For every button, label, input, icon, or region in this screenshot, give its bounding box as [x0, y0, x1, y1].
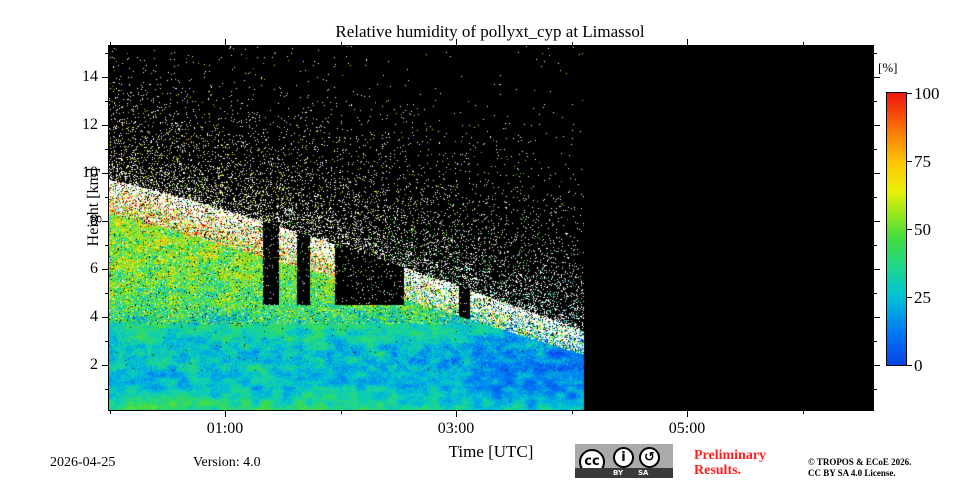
y-tick-label-14: 14 [38, 69, 98, 85]
colorbar-tick-0 [907, 365, 912, 366]
y-tick-12-right [873, 125, 880, 126]
cc-icon-row: cc i ↺ [575, 444, 673, 468]
y-minor-tick-5-right [873, 293, 877, 294]
colorbar-tick-75 [907, 161, 912, 162]
colorbar-label-50: 50 [914, 221, 931, 238]
y-tick-8-right [873, 221, 880, 222]
y-minor-tick-7 [105, 245, 109, 246]
y-minor-tick-11-right [873, 149, 877, 150]
y-tick-label-2: 2 [38, 357, 98, 373]
colorbar-gradient [886, 92, 907, 366]
y-tick-10 [102, 173, 109, 174]
x-tick-label-0300: 03:00 [416, 420, 496, 438]
y-tick-4-right [873, 317, 880, 318]
y-tick-10-right [873, 173, 880, 174]
colorbar-tick-25 [907, 297, 912, 298]
page-title: Relative humidity of pollyxt_cyp at Lima… [108, 22, 872, 42]
cc-by-person-icon: i [613, 447, 634, 468]
cc-sa-share-alike-icon: ↺ [639, 447, 660, 468]
y-minor-tick-13-right [873, 101, 877, 102]
x-tick-0100-top [225, 39, 226, 46]
colorbar-label-25: 25 [914, 289, 931, 306]
humidity-heatmap [109, 46, 873, 410]
y-tick-8 [102, 221, 109, 222]
y-tick-4 [102, 317, 109, 318]
y-minor-tick-9 [105, 197, 109, 198]
y-minor-tick-5 [105, 293, 109, 294]
x-tick-0100 [225, 410, 226, 417]
x-minor-tick-0000-top [110, 42, 111, 46]
x-minor-tick-0200-top [341, 42, 342, 46]
copyright-notice: © TROPOS & ECoE 2026. CC BY SA 4.0 Licen… [808, 457, 911, 479]
figure-canvas: Relative humidity of pollyxt_cyp at Lima… [0, 0, 960, 480]
y-tick-2 [102, 365, 109, 366]
preliminary-line-1: Preliminary [694, 448, 766, 463]
y-tick-14-right [873, 77, 880, 78]
colorbar-unit-label: [%] [878, 60, 898, 76]
y-tick-6-right [873, 269, 880, 270]
y-tick-label-4: 4 [38, 309, 98, 325]
y-minor-tick-13 [105, 101, 109, 102]
x-tick-0300-top [456, 39, 457, 46]
y-minor-tick-9-right [873, 197, 877, 198]
colorbar-label-0: 0 [914, 357, 923, 374]
y-minor-tick-3-right [873, 341, 877, 342]
y-minor-tick-1 [105, 389, 109, 390]
plot-area[interactable]: 14 12 10 8 6 4 2 [108, 45, 874, 411]
copyright-line-1: © TROPOS & ECoE 2026. [808, 457, 911, 468]
x-minor-tick-0200 [341, 410, 342, 414]
x-minor-tick-0600 [803, 410, 804, 414]
copyright-line-2: CC BY SA 4.0 License. [808, 468, 911, 479]
colorbar[interactable]: 100 75 50 25 0 [886, 92, 907, 366]
cc-label-strip: BY SA [575, 468, 673, 478]
colorbar-tick-100 [907, 93, 912, 94]
y-minor-tick-3 [105, 341, 109, 342]
x-tick-0500-top [687, 39, 688, 46]
cc-by-label: BY [613, 468, 623, 478]
preliminary-results-notice: Preliminary Results. [694, 448, 766, 478]
x-tick-label-0100: 01:00 [185, 420, 265, 438]
colorbar-tick-50 [907, 229, 912, 230]
cc-sa-label: SA [638, 468, 648, 478]
y-minor-tick-1-right [873, 389, 877, 390]
y-tick-12 [102, 125, 109, 126]
colorbar-label-100: 100 [914, 85, 940, 102]
x-tick-0500 [687, 410, 688, 417]
y-axis-label: Height [km] [85, 107, 103, 307]
x-minor-tick-0400-top [572, 42, 573, 46]
creative-commons-badge[interactable]: cc i ↺ BY SA [575, 444, 673, 478]
y-minor-tick-15 [105, 53, 109, 54]
y-minor-tick-11 [105, 149, 109, 150]
y-tick-14 [102, 77, 109, 78]
y-tick-6 [102, 269, 109, 270]
footer-version: Version: 4.0 [193, 455, 261, 471]
colorbar-label-75: 75 [914, 153, 931, 170]
x-tick-0300 [456, 410, 457, 417]
x-tick-label-0500: 05:00 [647, 420, 727, 438]
preliminary-line-2: Results. [694, 463, 766, 478]
y-minor-tick-15-right [873, 53, 877, 54]
footer-date: 2026-04-25 [50, 455, 115, 471]
x-minor-tick-0400 [572, 410, 573, 414]
y-tick-2-right [873, 365, 880, 366]
x-minor-tick-0000 [110, 410, 111, 414]
y-minor-tick-7-right [873, 245, 877, 246]
x-minor-tick-0600-top [803, 42, 804, 46]
